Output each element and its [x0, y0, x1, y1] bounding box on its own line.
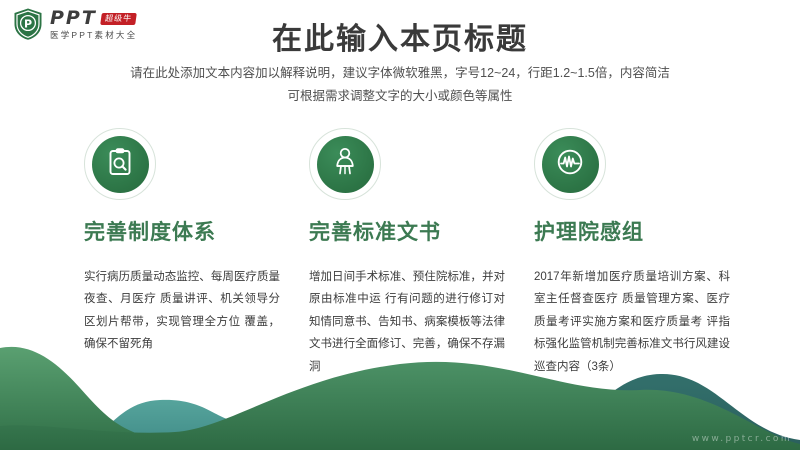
- nurse-person-icon: [331, 147, 359, 182]
- page-subtitle-line-1: 请在此处添加文本内容加以解释说明，建议字体微软雅黑，字号12~24，行距1.2~…: [0, 62, 800, 85]
- icon-circle-1: [92, 136, 149, 193]
- icon-circle-2: [317, 136, 374, 193]
- decorative-waves: www.pptcr.com: [0, 340, 800, 450]
- column-heading-1: 完善制度体系: [84, 216, 288, 246]
- clipboard-search-icon: [106, 147, 134, 182]
- column-heading-2: 完善标准文书: [309, 216, 513, 246]
- site-watermark: www.pptcr.com: [692, 434, 792, 444]
- icon-ring-2: [309, 128, 381, 200]
- icon-ring-1: [84, 128, 156, 200]
- pulse-heartbeat-icon: [555, 147, 585, 182]
- slide-canvas: P PPT 超级牛 医学PPT素材大全 在此输入本页标题 请在此处添加文本内容加…: [0, 0, 800, 450]
- page-title: 在此输入本页标题: [0, 14, 800, 58]
- page-subtitle-line-2: 可根据需求调整文字的大小或颜色等属性: [0, 85, 800, 108]
- icon-circle-3: [542, 136, 599, 193]
- page-subtitle: 请在此处添加文本内容加以解释说明，建议字体微软雅黑，字号12~24，行距1.2~…: [0, 62, 800, 108]
- icon-ring-3: [534, 128, 606, 200]
- column-heading-3: 护理院感组: [534, 216, 738, 246]
- wave-green-front: [0, 362, 800, 450]
